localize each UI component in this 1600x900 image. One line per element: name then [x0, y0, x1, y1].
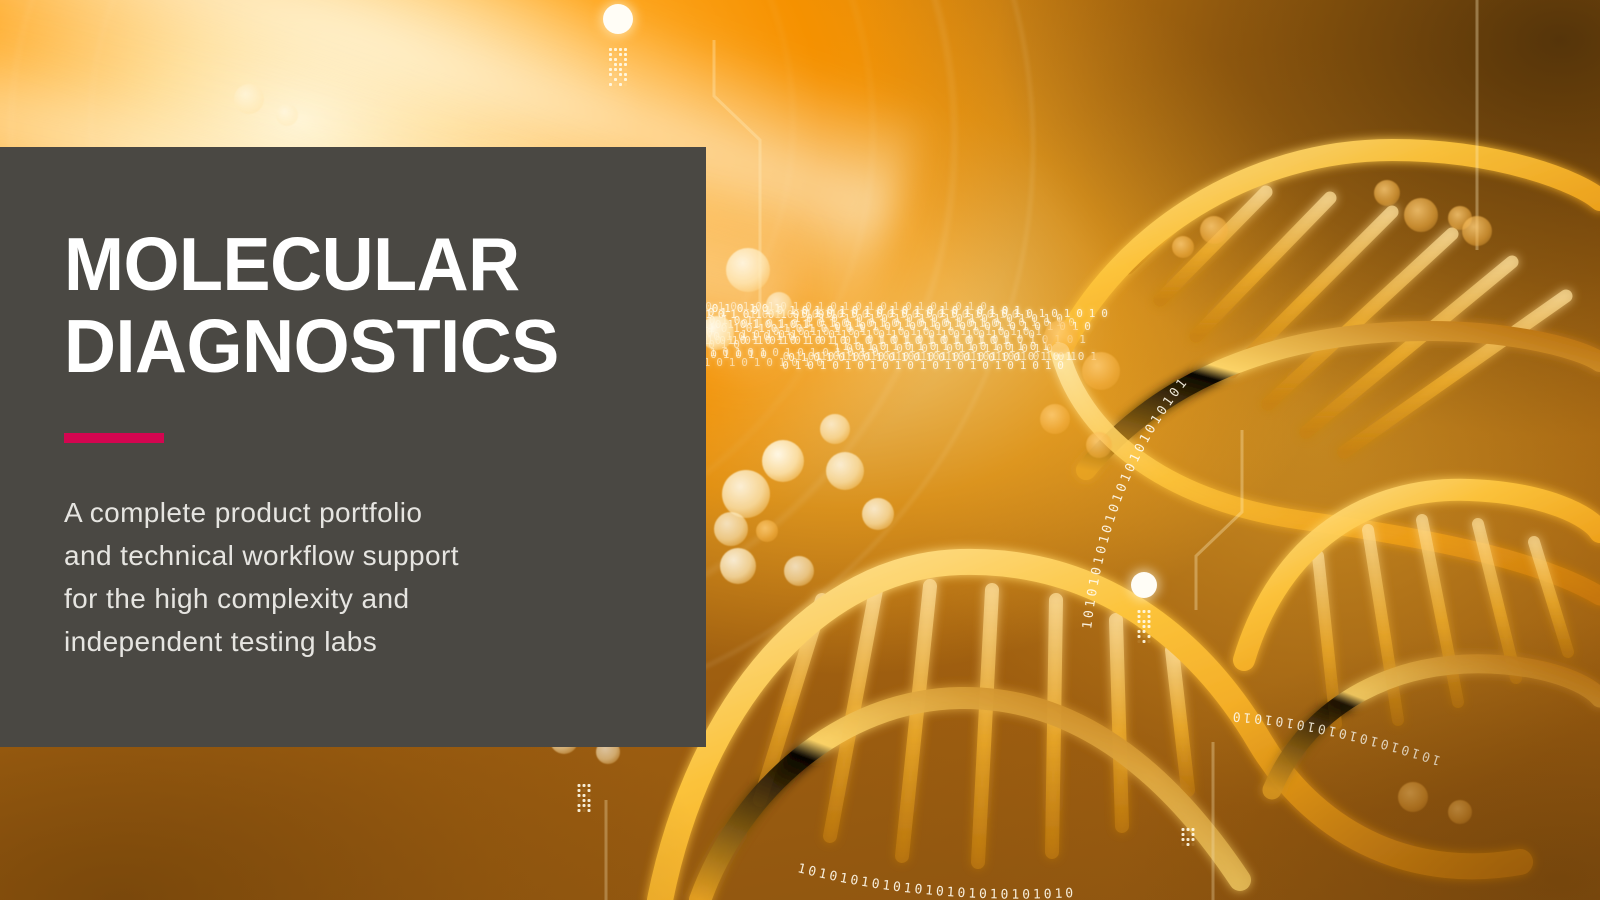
page-subtitle-line-1: A complete product portfolio [64, 491, 584, 534]
binary-rain-column: 0 1 0 1 0 1 0 1 0 1 0 1 0 1 0 1 0 1 0 1 … [1084, 320, 1093, 333]
content-panel-inner: MOLECULAR DIAGNOSTICS A complete product… [64, 147, 664, 663]
svg-text:10101010101010101010101010: 10101010101010101010101010 [796, 861, 1077, 900]
binary-rain-column: 1 0 1 0 1 0 1 0 1 0 1 0 1 0 1 0 1 0 1 0 … [1090, 350, 1099, 363]
page-title: MOLECULAR DIAGNOSTICS [64, 147, 640, 387]
page-subtitle-line-4: independent testing labs [64, 620, 584, 663]
dna-helix-lower-right [1244, 490, 1600, 790]
node-dot-matrix [1138, 610, 1151, 643]
page-title-line-2: DIAGNOSTICS [64, 305, 640, 387]
node-dot-matrix [578, 784, 591, 812]
accent-divider-bar [64, 433, 164, 443]
content-panel: MOLECULAR DIAGNOSTICS A complete product… [0, 147, 706, 747]
page-subtitle: A complete product portfolio and technic… [64, 443, 584, 663]
node-dot-icon [603, 4, 633, 34]
node-dot-matrix [609, 48, 627, 86]
binary-rain-column: 1 0 1 0 1 0 1 0 1 0 1 0 1 0 1 0 1 0 [1079, 333, 1088, 346]
hero-banner-slide: 1010101010101010101010101 10101010101010… [0, 0, 1600, 900]
page-subtitle-line-3: for the high complexity and [64, 577, 584, 620]
binary-rain-column: 0 1 0 1 0 1 0 1 0 1 0 1 0 1 0 1 0 1 0 1 … [1101, 307, 1110, 320]
node-dot-icon [1131, 572, 1157, 598]
page-title-line-1: MOLECULAR [64, 223, 640, 305]
node-dot-matrix [1182, 828, 1195, 846]
page-subtitle-line-2: and technical workflow support [64, 534, 584, 577]
binary-digit-rain: 1 0 1 0 1 0 1 0 1 0 1 0 1 0 1 0 1 0 1 0 … [690, 300, 1110, 640]
